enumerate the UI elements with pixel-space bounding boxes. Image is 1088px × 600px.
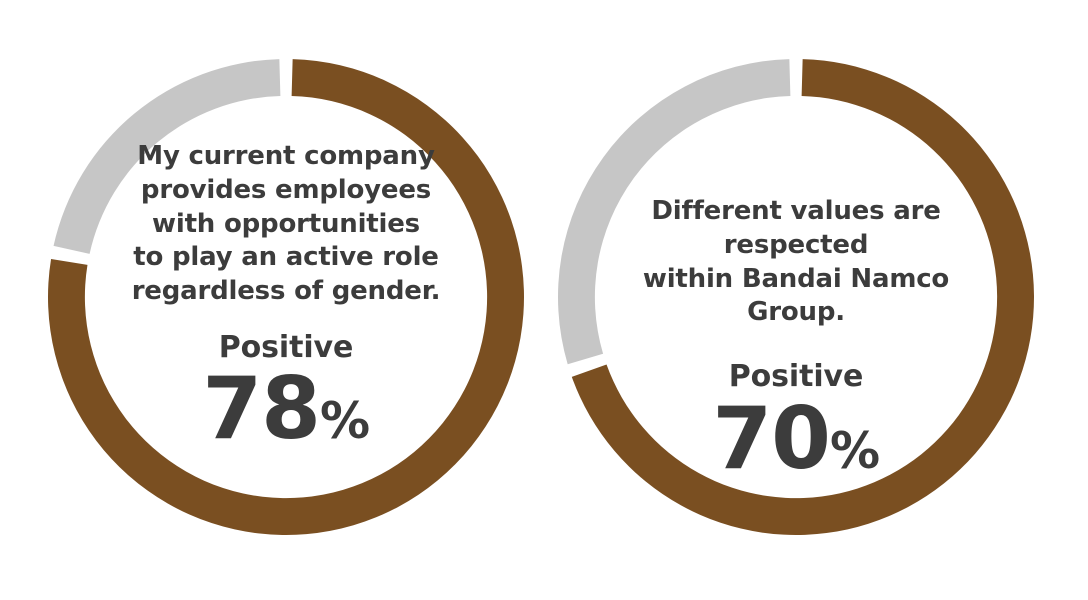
donut-segment-remainder-left (54, 59, 281, 254)
donut-chart-gender-opportunity: My current company provides employees wi… (0, 0, 1088, 600)
donut-right-segments (558, 59, 1034, 535)
donut-left-segments (48, 59, 524, 535)
chart-canvas: My current company provides employees wi… (0, 0, 1088, 600)
donut-chart-left-svg (0, 0, 1088, 600)
donut-segment-remainder-right (558, 59, 790, 364)
